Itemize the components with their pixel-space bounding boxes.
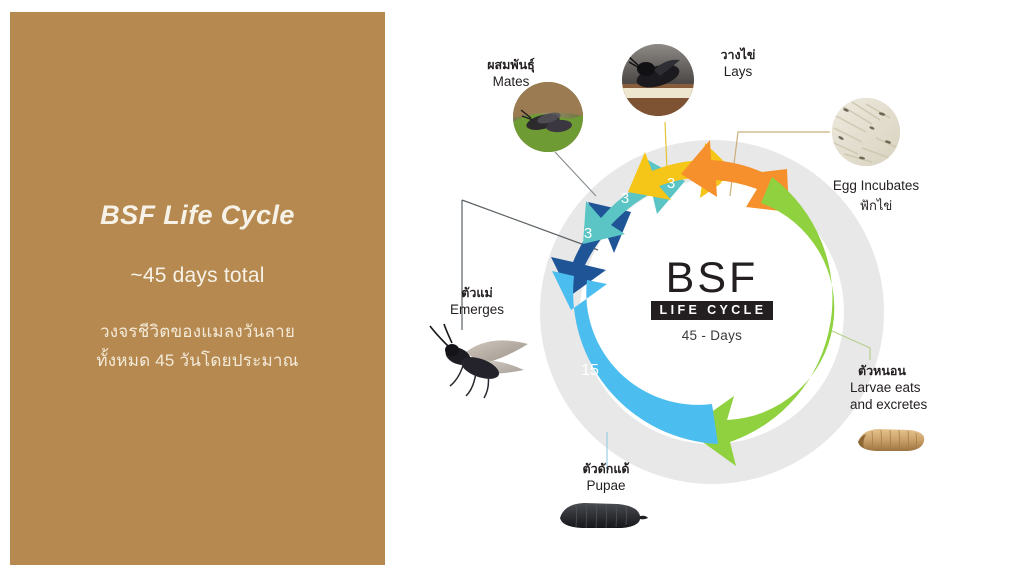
label-mates-english: Mates	[456, 74, 566, 91]
center-logo: BSF LIFE CYCLE 45 - Days	[628, 258, 796, 368]
label-egg-incubates: Egg Incubates ฟักไข่	[806, 178, 946, 214]
label-lays: วางไข่ Lays	[690, 48, 786, 81]
larva-photo	[852, 422, 930, 458]
center-logo-title: BSF	[628, 258, 796, 299]
label-egg-incubates-thai: ฟักไข่	[806, 198, 946, 214]
title-panel: BSF Life Cycle ~45 days total วงจรชีวิตข…	[10, 12, 385, 565]
label-larvae-english-line2: and excretes	[850, 397, 970, 414]
center-logo-bar: LIFE CYCLE	[651, 301, 774, 320]
label-pupae-thai: ตัวดักแด้	[550, 462, 662, 478]
label-egg-incubates-english: Egg Incubates	[806, 178, 946, 195]
connector-mates	[555, 152, 596, 196]
page-title: BSF Life Cycle	[100, 201, 295, 231]
label-larvae-english-line1: Larvae eats	[850, 380, 970, 397]
pupa-photo	[552, 496, 648, 536]
label-pupae: ตัวดักแด้ Pupae	[550, 462, 662, 495]
eggs-photo	[832, 98, 900, 166]
label-pupae-english: Pupae	[550, 478, 662, 495]
center-logo-days: 45 - Days	[628, 328, 796, 343]
slide-canvas: BSF Life Cycle ~45 days total วงจรชีวิตข…	[0, 0, 1024, 576]
label-lays-thai: วางไข่	[690, 48, 786, 64]
adult-fly-photo	[428, 322, 538, 404]
subtitle: ~45 days total	[130, 264, 264, 288]
life-cycle-diagram: 3 3 3 3 18 15 BSF LIFE CYCLE 45 - Days	[400, 0, 1024, 576]
fly-laying-eggs-photo	[622, 44, 694, 116]
label-emerges-thai: ตัวแม่	[422, 286, 532, 302]
thai-subtitle-line-2: ทั้งหมด 45 วันโดยประมาณ	[96, 347, 298, 376]
label-larvae: ตัวหนอน Larvae eats and excretes	[850, 364, 970, 413]
thai-subtitle-line-1: วงจรชีวิตของแมลงวันลาย	[100, 318, 295, 347]
label-lays-english: Lays	[690, 64, 786, 81]
label-mates: ผสมพันธุ์ Mates	[456, 58, 566, 91]
label-emerges-english: Emerges	[422, 302, 532, 319]
label-emerges: ตัวแม่ Emerges	[422, 286, 532, 319]
label-mates-thai: ผสมพันธุ์	[456, 58, 566, 74]
label-larvae-thai: ตัวหนอน	[858, 364, 970, 380]
mating-flies-photo	[513, 82, 583, 152]
